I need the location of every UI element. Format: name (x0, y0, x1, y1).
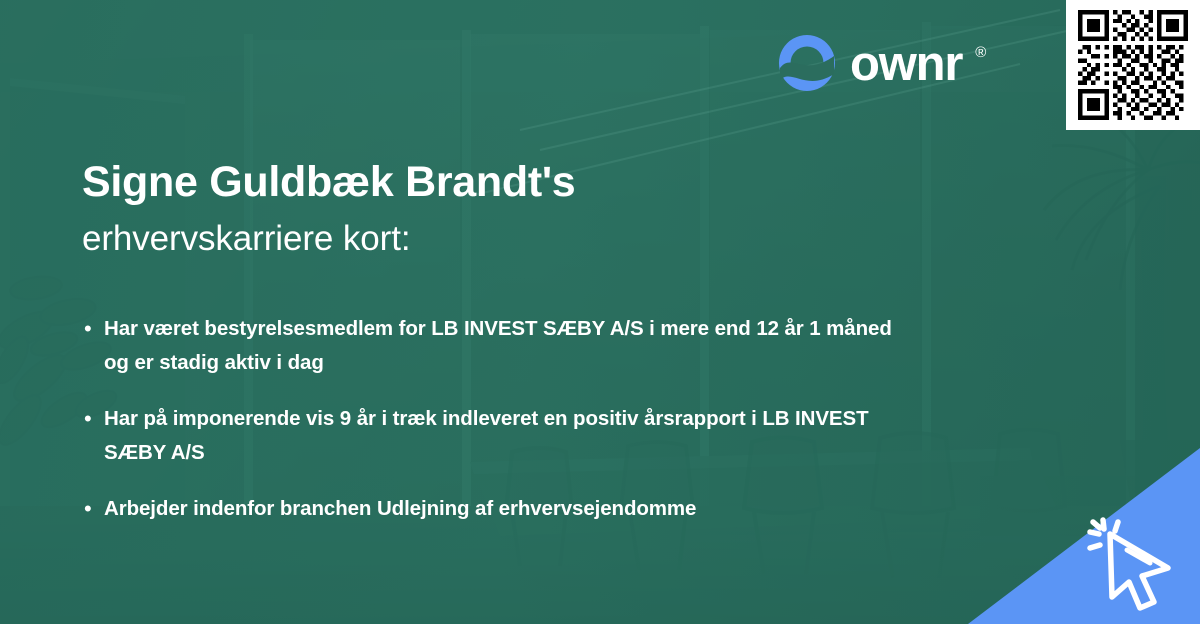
career-card: ownr ® (0, 0, 1200, 624)
list-item-label: Arbejder indenfor branchen Udlejning af … (104, 492, 696, 526)
page-title: Signe Guldbæk Brandt's erhvervskarriere … (82, 158, 982, 260)
career-highlights-list: • Har været bestyrelsesmedlem for LB INV… (82, 312, 962, 526)
bullet-marker-icon: • (82, 312, 104, 346)
list-item: • Har på imponerende vis 9 år i træk ind… (82, 402, 962, 470)
subtitle: erhvervskarriere kort: (82, 218, 982, 260)
list-item-label: Har været bestyrelsesmedlem for LB INVES… (104, 312, 894, 380)
list-item: • Arbejder indenfor branchen Udlejning a… (82, 492, 962, 526)
ownr-wordmark: ownr (850, 40, 962, 89)
ownr-logo: ownr ® (778, 32, 986, 94)
ownr-circle-swirl-icon (778, 34, 836, 92)
person-name-title: Signe Guldbæk Brandt's (82, 158, 982, 206)
list-item-label: Har på imponerende vis 9 år i træk indle… (104, 402, 894, 470)
bullet-marker-icon: • (82, 492, 104, 526)
bullet-marker-icon: • (82, 402, 104, 436)
list-item: • Har været bestyrelsesmedlem for LB INV… (82, 312, 962, 380)
registered-mark: ® (975, 45, 986, 60)
click-cursor-icon (1080, 510, 1184, 614)
qr-code-icon[interactable] (1066, 0, 1200, 130)
